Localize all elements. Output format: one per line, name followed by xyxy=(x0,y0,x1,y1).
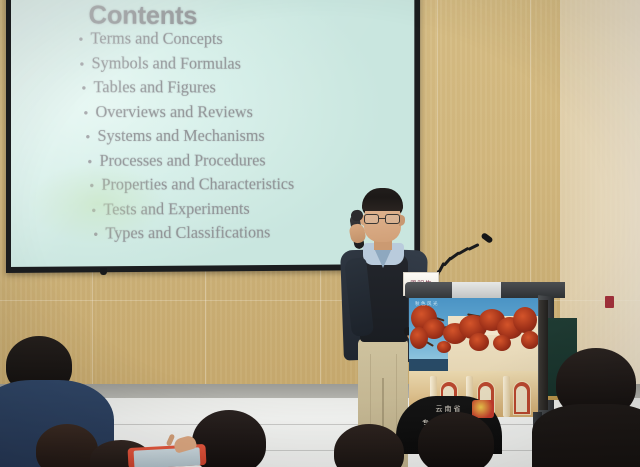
list-item-label: Types and Classifications xyxy=(105,223,270,244)
poster-caption-text: 秋色风光 xyxy=(415,301,439,307)
tablet-screen[interactable] xyxy=(134,447,201,467)
screen-mount-bracket xyxy=(100,268,107,275)
list-item-label: Systems and Mechanisms xyxy=(97,126,264,146)
list-item: • Tables and Figures xyxy=(79,77,372,102)
list-item-label: Overviews and Reviews xyxy=(95,102,252,122)
poster-autumn-foliage xyxy=(521,331,539,349)
glasses-lens-left xyxy=(364,214,379,224)
glasses-bridge xyxy=(379,218,386,219)
bullet-marker-icon: • xyxy=(90,179,102,192)
list-item-label: Terms and Concepts xyxy=(91,28,223,49)
bullet-marker-icon: • xyxy=(88,154,100,167)
slide-title: Contents xyxy=(89,0,198,31)
list-item: • Properties and Characteristics xyxy=(79,174,372,199)
list-item: • Terms and Concepts xyxy=(79,28,372,54)
audience-member xyxy=(520,348,640,467)
list-item-label: Tables and Figures xyxy=(94,77,216,97)
bullet-marker-icon: • xyxy=(79,32,91,45)
list-item: • Overviews and Reviews xyxy=(79,102,372,126)
poster-autumn-foliage xyxy=(513,307,537,333)
lectern-top-left xyxy=(405,282,453,298)
podium-red-object xyxy=(605,296,614,308)
glasses-icon xyxy=(363,214,403,224)
audience-head xyxy=(334,424,404,467)
bullet-marker-icon: • xyxy=(80,57,92,70)
list-item: • Types and Classifications xyxy=(79,222,372,248)
audience-head xyxy=(36,424,98,467)
list-item-label: Symbols and Formulas xyxy=(92,53,241,73)
poster-autumn-foliage xyxy=(469,333,489,351)
bullet-marker-icon: • xyxy=(84,106,96,119)
audience-member xyxy=(330,424,420,467)
poster-autumn-foliage xyxy=(437,341,451,353)
list-item: • Processes and Procedures xyxy=(79,150,372,175)
list-item: • Tests and Experiments xyxy=(79,198,372,223)
poster-autumn-foliage xyxy=(410,327,428,349)
bullet-marker-icon: • xyxy=(86,130,98,143)
list-item: • Symbols and Formulas xyxy=(79,53,372,78)
audience-head xyxy=(418,412,494,467)
podium-gooseneck-microphone xyxy=(434,236,494,288)
bullet-marker-icon: • xyxy=(94,227,106,240)
list-item-label: Tests and Experiments xyxy=(103,199,249,219)
poster-autumn-foliage xyxy=(493,335,511,351)
poster-column xyxy=(503,376,510,417)
bullet-marker-icon: • xyxy=(82,81,94,94)
lectern-top-right xyxy=(501,282,565,298)
list-item: • Systems and Mechanisms xyxy=(79,126,372,150)
gooseneck-segment xyxy=(467,243,479,251)
slide-bullet-list: • Terms and Concepts • Symbols and Formu… xyxy=(79,28,372,248)
lectern-top-center xyxy=(452,282,502,298)
bullet-marker-icon: • xyxy=(92,203,104,216)
presenter-hair-fringe xyxy=(362,197,403,211)
list-item-label: Properties and Characteristics xyxy=(101,174,294,194)
glasses-lens-right xyxy=(385,214,400,224)
audience-member xyxy=(418,412,514,467)
list-item-label: Processes and Procedures xyxy=(99,150,265,170)
lecture-hall-scene: Contents • Terms and Concepts • Symbols … xyxy=(0,0,640,467)
audience-shoulders xyxy=(532,404,640,467)
